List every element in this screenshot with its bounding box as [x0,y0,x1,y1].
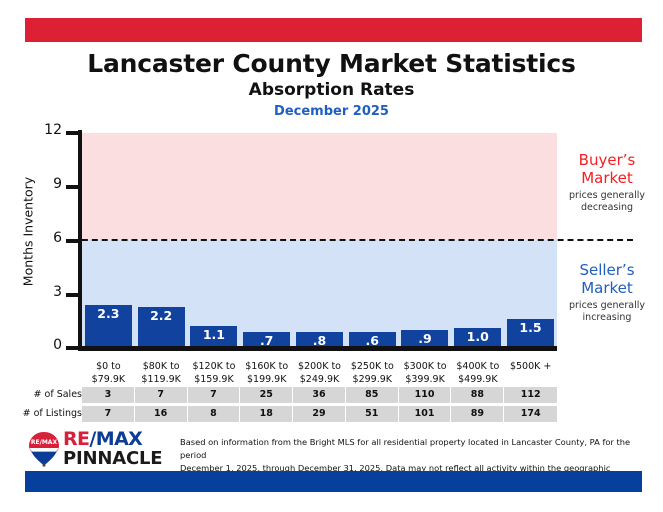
table-cell: 18 [240,406,293,422]
bar-value-label: .7 [260,332,273,348]
table-cell: 36 [293,387,346,403]
buyer-market-note2: decreasing [551,202,663,213]
category-label: $200K to$249.9K [293,361,346,387]
y-tick-12 [66,131,80,135]
table-cell: 174 [504,406,557,422]
bar-slot: 1.5 [504,133,557,346]
bar-series: 2.32.21.1.7.8.6.91.01.5 [82,133,557,346]
page-subtitle: Absorption Rates [0,78,663,103]
seller-market-note2: increasing [551,312,663,323]
seller-market-note1: prices generally [551,300,663,311]
category-label-line: $119.9K [135,374,188,387]
table-row-cells: 37725368511088112 [82,387,557,403]
chart-bar[interactable]: 1.1 [190,326,237,346]
bar-slot: 2.3 [82,133,135,346]
table-cell: 16 [135,406,188,422]
category-label: $160K to$199.9K [240,361,293,387]
category-label-line: $399.9K [399,374,452,387]
table-cell: 89 [451,406,504,422]
y-tick-label-12: 12 [22,122,62,138]
buyer-market-line2: Market [551,170,663,188]
table-cell: 7 [82,406,135,422]
top-banner [25,18,642,42]
table-cell: 51 [346,406,399,422]
bar-slot: 1.0 [451,133,504,346]
chart-bar[interactable]: 2.3 [85,305,132,346]
y-tick-label-0: 0 [22,337,62,353]
bar-value-label: 1.5 [519,319,541,335]
buyer-market-note1: prices generally [551,190,663,201]
table-cell: 25 [240,387,293,403]
table-row: # of Sales37725368511088112 [20,387,557,403]
y-tick-3 [66,293,80,297]
bar-slot: 2.2 [135,133,188,346]
category-label-line: $199.9K [240,374,293,387]
table-cell: 8 [188,406,241,422]
footer: RE/MAX RE/MAX PINNACLE Based on informat… [25,428,642,468]
category-label-line: $299.9K [346,374,399,387]
bar-slot: .9 [399,133,452,346]
bar-value-label: 2.2 [150,307,172,323]
table-cell: 3 [82,387,135,403]
bar-slot: .6 [346,133,399,346]
chart-bar[interactable]: .6 [349,332,396,346]
category-label-line: $80K to [135,361,188,374]
bar-value-label: 1.1 [203,326,225,342]
category-label-line: $499.9K [451,374,504,387]
bar-value-label: 1.0 [467,328,489,344]
category-label-line: $79.9K [82,374,135,387]
category-label: $300K to$399.9K [399,361,452,387]
bar-value-label: 2.3 [97,305,119,321]
category-label-line: $159.9K [188,374,241,387]
logo-max: MAX [96,428,142,450]
category-label: $400K to$499.9K [451,361,504,387]
remax-balloon-icon: RE/MAX [27,431,61,467]
svg-text:RE/MAX: RE/MAX [31,439,58,446]
x-axis-category-labels: $0 to$79.9K$80K to$119.9K$120K to$159.9K… [82,361,557,387]
bar-value-label: .9 [418,330,431,346]
chart-bar[interactable]: .8 [296,332,343,346]
table-cell: 7 [135,387,188,403]
seller-market-annotation: Seller’s Market prices generally increas… [551,262,663,323]
disclaimer-line-1: Based on information from the Bright MLS… [180,436,642,462]
bottom-banner [25,471,642,492]
category-label-line: $249.9K [293,374,346,387]
table-cell: 112 [504,387,557,403]
table-cell: 88 [451,387,504,403]
seller-market-line2: Market [551,280,663,298]
category-label-line: $0 to [82,361,135,374]
report-period: December 2025 [0,102,663,122]
table-cell: 85 [346,387,399,403]
category-label-line: $120K to [188,361,241,374]
page-title: Lancaster County Market Statistics [0,50,663,78]
buyer-market-line1: Buyer’s [551,152,663,170]
category-label-line: $500K + [504,361,557,374]
table-cell: 7 [188,387,241,403]
remax-pinnacle-logo: RE/MAX RE/MAX PINNACLE [25,430,177,468]
chart-bar[interactable]: 2.2 [138,307,185,346]
category-label: $0 to$79.9K [82,361,135,387]
y-tick-label-6: 6 [22,230,62,246]
category-label: $500K + [504,361,557,387]
category-label-line: $400K to [451,361,504,374]
table-cell: 110 [399,387,452,403]
logo-remax-text: RE/MAX [63,430,162,450]
category-label-line: $250K to [346,361,399,374]
y-tick-0 [66,346,80,350]
logo-wordmark: RE/MAX PINNACLE [63,430,162,469]
chart-bar[interactable]: 1.5 [507,319,554,346]
table-row-label: # of Sales [20,387,82,403]
table-row-label: # of Listings [20,406,82,422]
chart-bar[interactable]: 1.0 [454,328,501,346]
chart-bar[interactable]: .9 [401,330,448,346]
bar-value-label: .8 [313,332,326,348]
table-row: # of Listings716818295110189174 [20,406,557,422]
category-label: $80K to$119.9K [135,361,188,387]
category-label: $250K to$299.9K [346,361,399,387]
buyer-market-annotation: Buyer’s Market prices generally decreasi… [551,152,663,213]
logo-re: RE [63,428,89,450]
bar-slot: 1.1 [188,133,241,346]
bar-slot: .8 [293,133,346,346]
seller-market-line1: Seller’s [551,262,663,280]
logo-office-name: PINNACLE [63,450,162,469]
table-row-cells: 716818295110189174 [82,406,557,422]
category-label-line: $160K to [240,361,293,374]
category-label: $120K to$159.9K [188,361,241,387]
header-titles: Lancaster County Market Statistics Absor… [0,50,663,122]
table-cell: 101 [399,406,452,422]
y-tick-9 [66,185,80,189]
bar-slot: .7 [240,133,293,346]
y-tick-label-9: 9 [22,176,62,192]
category-label-line: $200K to [293,361,346,374]
chart-bar[interactable]: .7 [243,332,290,346]
statistics-table: # of Sales37725368511088112# of Listings… [20,387,557,425]
category-label-line: $300K to [399,361,452,374]
y-tick-label-3: 3 [22,284,62,300]
table-cell: 29 [293,406,346,422]
bar-value-label: .6 [365,332,378,348]
